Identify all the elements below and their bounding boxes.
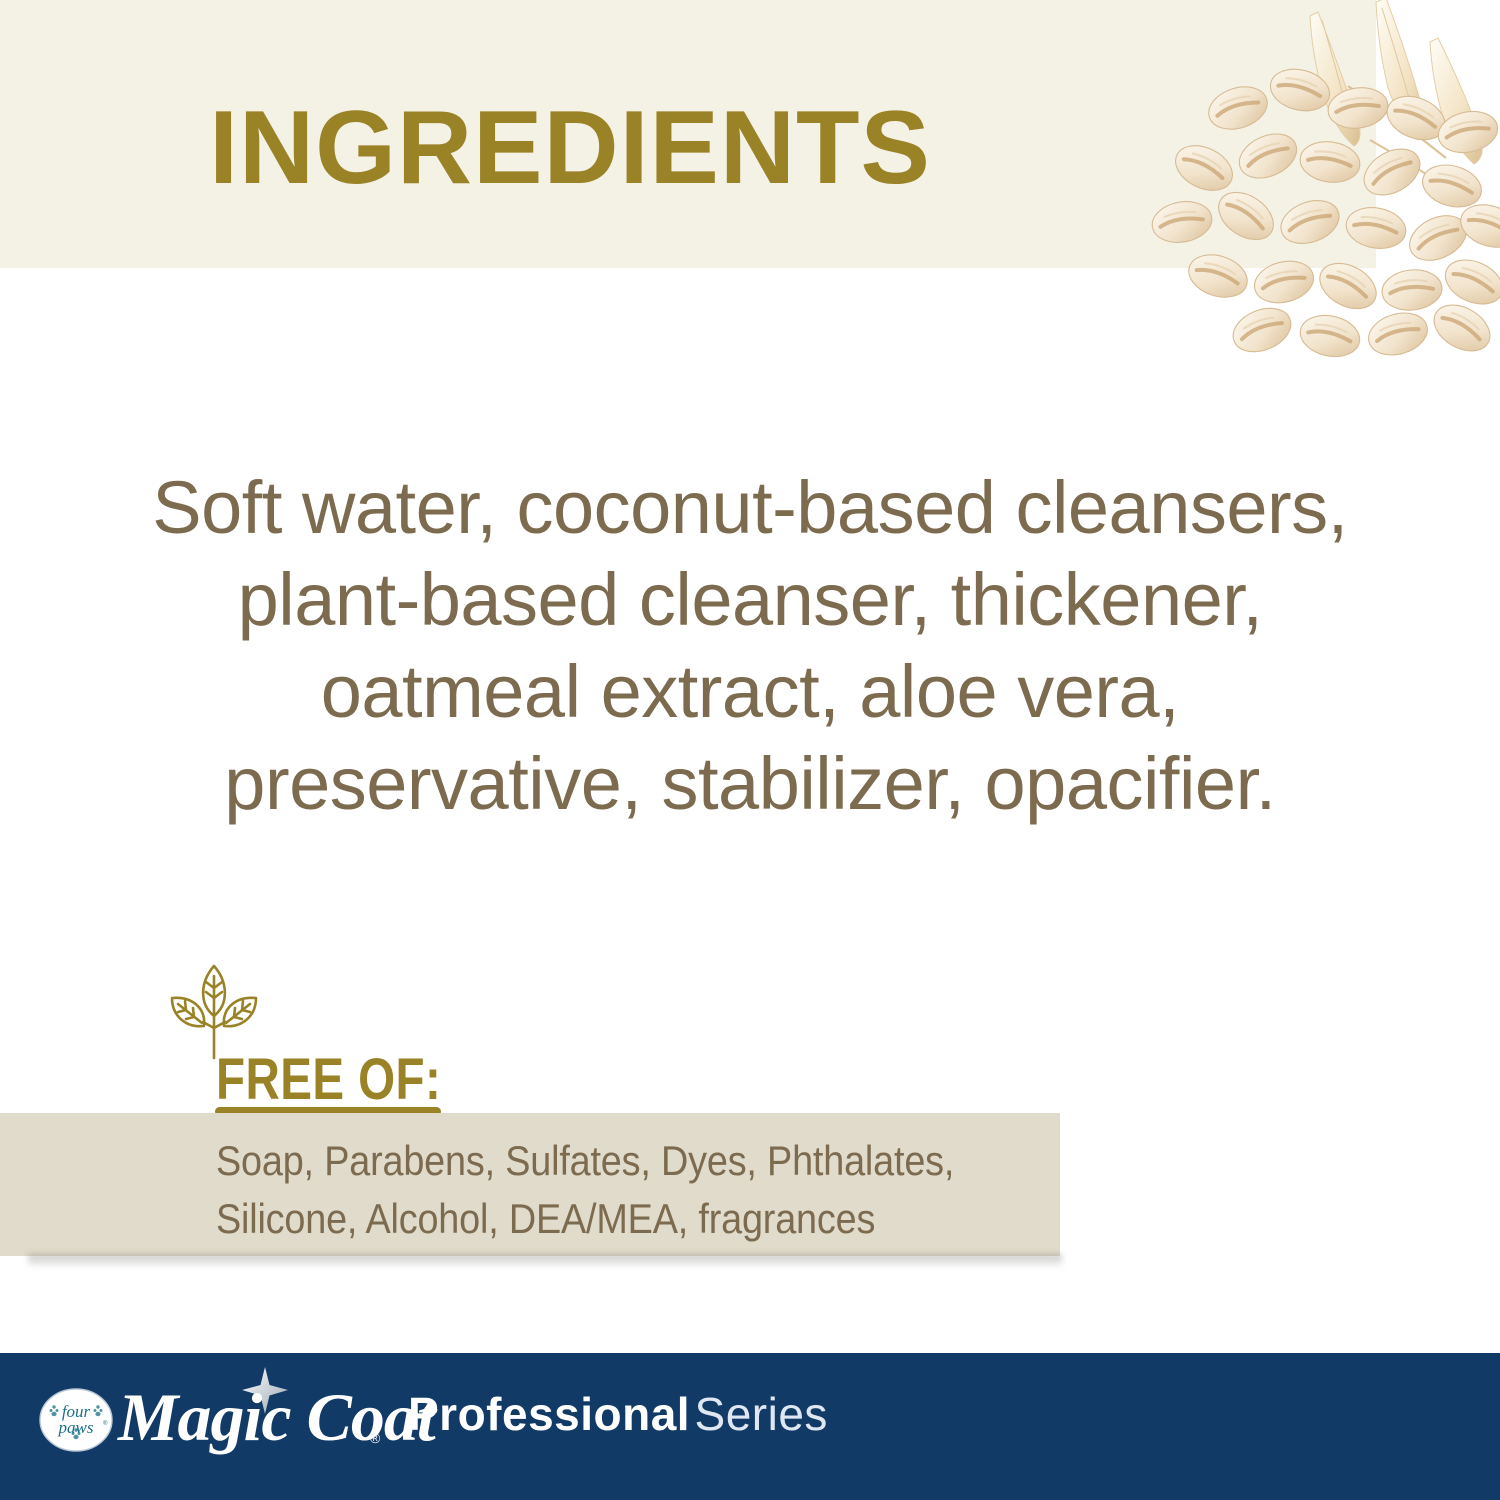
- badge-line-2: paws: [58, 1418, 94, 1437]
- footer-brand-lockup: four paws ® Magic Coat ® Professional Se…: [38, 1374, 828, 1466]
- ingredients-paragraph: Soft water, coconut-based cleansers, pla…: [120, 462, 1380, 830]
- four-paws-badge-icon: four paws ®: [38, 1383, 114, 1457]
- ingredients-panel: INGREDIENTS: [0, 0, 1500, 1500]
- free-of-list: Soap, Parabens, Sulfates, Dyes, Phthalat…: [216, 1132, 954, 1248]
- free-of-band-shadow: [28, 1254, 1062, 1268]
- free-of-list-line: Silicone, Alcohol, DEA/MEA, fragrances: [216, 1190, 954, 1248]
- free-of-section: FREE OF: Soap, Parabens, Sulfates, Dyes,…: [0, 955, 1100, 1275]
- magic-coat-wordmark: Magic Coat: [118, 1380, 435, 1454]
- free-of-list-line: Soap, Parabens, Sulfates, Dyes, Phthalat…: [216, 1132, 954, 1190]
- free-of-heading: FREE OF:: [216, 1051, 441, 1109]
- tagline-professional: Professional: [408, 1388, 690, 1440]
- tagline-series: Series: [695, 1388, 828, 1440]
- registered-mark: ®: [370, 1430, 380, 1446]
- magic-coat-logo: Magic Coat ®: [118, 1374, 386, 1466]
- svg-text:®: ®: [103, 1420, 108, 1427]
- page-title: INGREDIENTS: [0, 96, 1140, 200]
- professional-series-tagline: Professional Series: [408, 1368, 828, 1472]
